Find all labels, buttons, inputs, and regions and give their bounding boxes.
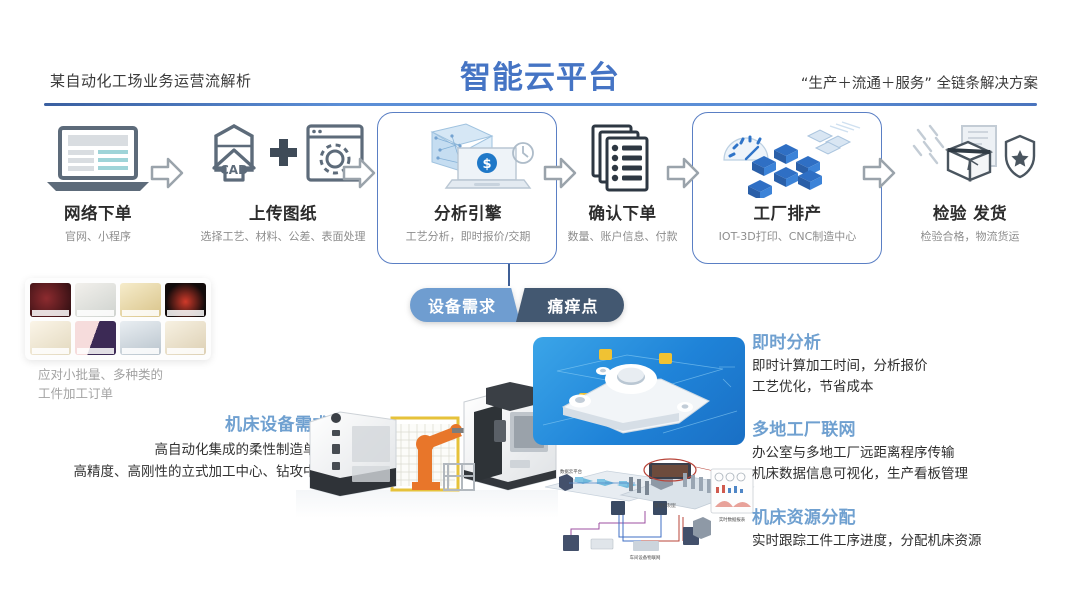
flow-step-subtitle: 工艺分析，即时报价/交期 <box>406 228 531 244</box>
svg-text:$: $ <box>482 157 491 172</box>
flow-arrow-5 <box>862 157 896 189</box>
feature-line1: 实时跟踪工件工序进度，分配机床资源 <box>752 531 1052 552</box>
feature-heading: 机床资源分配 <box>752 503 1052 528</box>
svg-text:数据云平台: 数据云平台 <box>560 468 583 475</box>
flow-arrow-2 <box>342 157 376 189</box>
flow-step-title: 检验 发货 <box>933 200 1007 224</box>
process-flow: 网络下单 官网、小程序 CAD <box>0 112 1080 262</box>
feature-line2: 机床数据信息可视化，生产看板管理 <box>752 464 1052 485</box>
list-item <box>165 283 206 317</box>
header-right-caption: “生产＋流通＋服务” 全链条解决方案 <box>801 72 1038 93</box>
svg-text:车间设备物联网: 车间设备物联网 <box>630 554 661 561</box>
list-item <box>75 321 116 355</box>
flow-step-subtitle: 选择工艺、材料、公差、表面处理 <box>201 228 366 244</box>
iot-network-diagram: 数据云平台 管理控制室 实时数据报表 车间设备物联网 <box>533 443 758 561</box>
page-header: 某自动化工场业务运营流解析 智能云平台 “生产＋流通＋服务” 全链条解决方案 <box>0 0 1080 110</box>
flow-step-title: 确认下单 <box>589 200 657 224</box>
flow-step-subtitle: 检验合格，物流货运 <box>921 228 1020 244</box>
flow-step-title: 上传图纸 <box>249 200 317 224</box>
flow-step-title: 分析引擎 <box>434 200 502 224</box>
section-tabs: 设备需求 痛痒点 <box>410 288 624 322</box>
feature-line2: 工艺优化，节省成本 <box>752 377 1052 398</box>
cnc-machine-photo <box>296 378 558 518</box>
laptop-icon <box>33 120 163 198</box>
flow-arrow-1 <box>150 157 184 189</box>
feature-line1: 办公室与多地工厂远距离程序传输 <box>752 443 1052 464</box>
analysis-laptop-icon: $ <box>392 120 544 198</box>
list-item <box>120 321 161 355</box>
feature-heading: 多地工厂联网 <box>752 415 1052 440</box>
flow-arrow-4 <box>666 157 700 189</box>
flow-step-inspect-ship[interactable]: 检验 发货 检验合格，物流货运 <box>900 120 1040 262</box>
feature-heading: 即时分析 <box>752 328 1052 353</box>
tab-equipment-demand[interactable]: 设备需求 <box>410 288 520 322</box>
flow-step-factory-schedule[interactable]: 工厂排产 IOT-3D打印、CNC制造中心 <box>700 120 875 262</box>
flow-step-network-order[interactable]: 网络下单 官网、小程序 <box>33 120 163 262</box>
list-item <box>120 283 161 317</box>
list-item <box>30 283 71 317</box>
factory-icon <box>700 120 875 198</box>
list-item <box>165 321 206 355</box>
flow-step-title: 网络下单 <box>64 200 132 224</box>
list-item <box>30 321 71 355</box>
flow-step-subtitle: 官网、小程序 <box>65 228 131 244</box>
svg-text:实时数据报表: 实时数据报表 <box>719 516 746 523</box>
cad-part-render <box>533 337 745 445</box>
shipping-box-icon <box>900 120 1040 198</box>
thumbnail-caption: 应对小批量、多种类的 工件加工订单 <box>38 366 218 404</box>
feature-line1: 即时计算加工时间，分析报价 <box>752 356 1052 377</box>
svg-text:管理控制室: 管理控制室 <box>654 502 677 509</box>
flow-step-analysis-engine[interactable]: $ 分析引擎 工艺分析，即时报价/交期 <box>392 120 544 262</box>
feature-instant-analysis: 即时分析 即时计算加工时间，分析报价 工艺优化，节省成本 <box>752 328 1052 399</box>
flow-step-subtitle: 数量、账户信息、付款 <box>568 228 678 244</box>
header-divider <box>44 103 1037 106</box>
machine-demand-heading: 机床设备需求 <box>20 410 330 435</box>
list-item <box>75 283 116 317</box>
feature-resource-allocation: 机床资源分配 实时跟踪工件工序进度，分配机床资源 <box>752 503 1052 552</box>
feature-multisite-network: 多地工厂联网 办公室与多地工厂远距离程序传输 机床数据信息可视化，生产看板管理 <box>752 415 1052 486</box>
flow-step-confirm-order[interactable]: 确认下单 数量、账户信息、付款 <box>560 120 685 262</box>
flow-step-upload-drawing[interactable]: CAD 上传图纸 选择工艺、材料、公差、表面处理 <box>198 120 368 262</box>
flow-step-subtitle: IOT-3D打印、CNC制造中心 <box>719 228 857 244</box>
tab-connector-stem <box>508 264 510 286</box>
machine-demand-line2: 高精度、高刚性的立式加工中心、钻攻中心 <box>20 462 330 483</box>
tab-pain-points[interactable]: 痛痒点 <box>516 288 624 322</box>
svg-text:CAD: CAD <box>220 163 248 177</box>
machine-demand-text: 机床设备需求 高自动化集成的柔性制造单元 高精度、高刚性的立式加工中心、钻攻中心 <box>20 410 330 483</box>
parts-thumbnail-grid <box>25 278 211 360</box>
flow-step-title: 工厂排产 <box>754 200 822 224</box>
machine-demand-line1: 高自动化集成的柔性制造单元 <box>20 440 330 461</box>
